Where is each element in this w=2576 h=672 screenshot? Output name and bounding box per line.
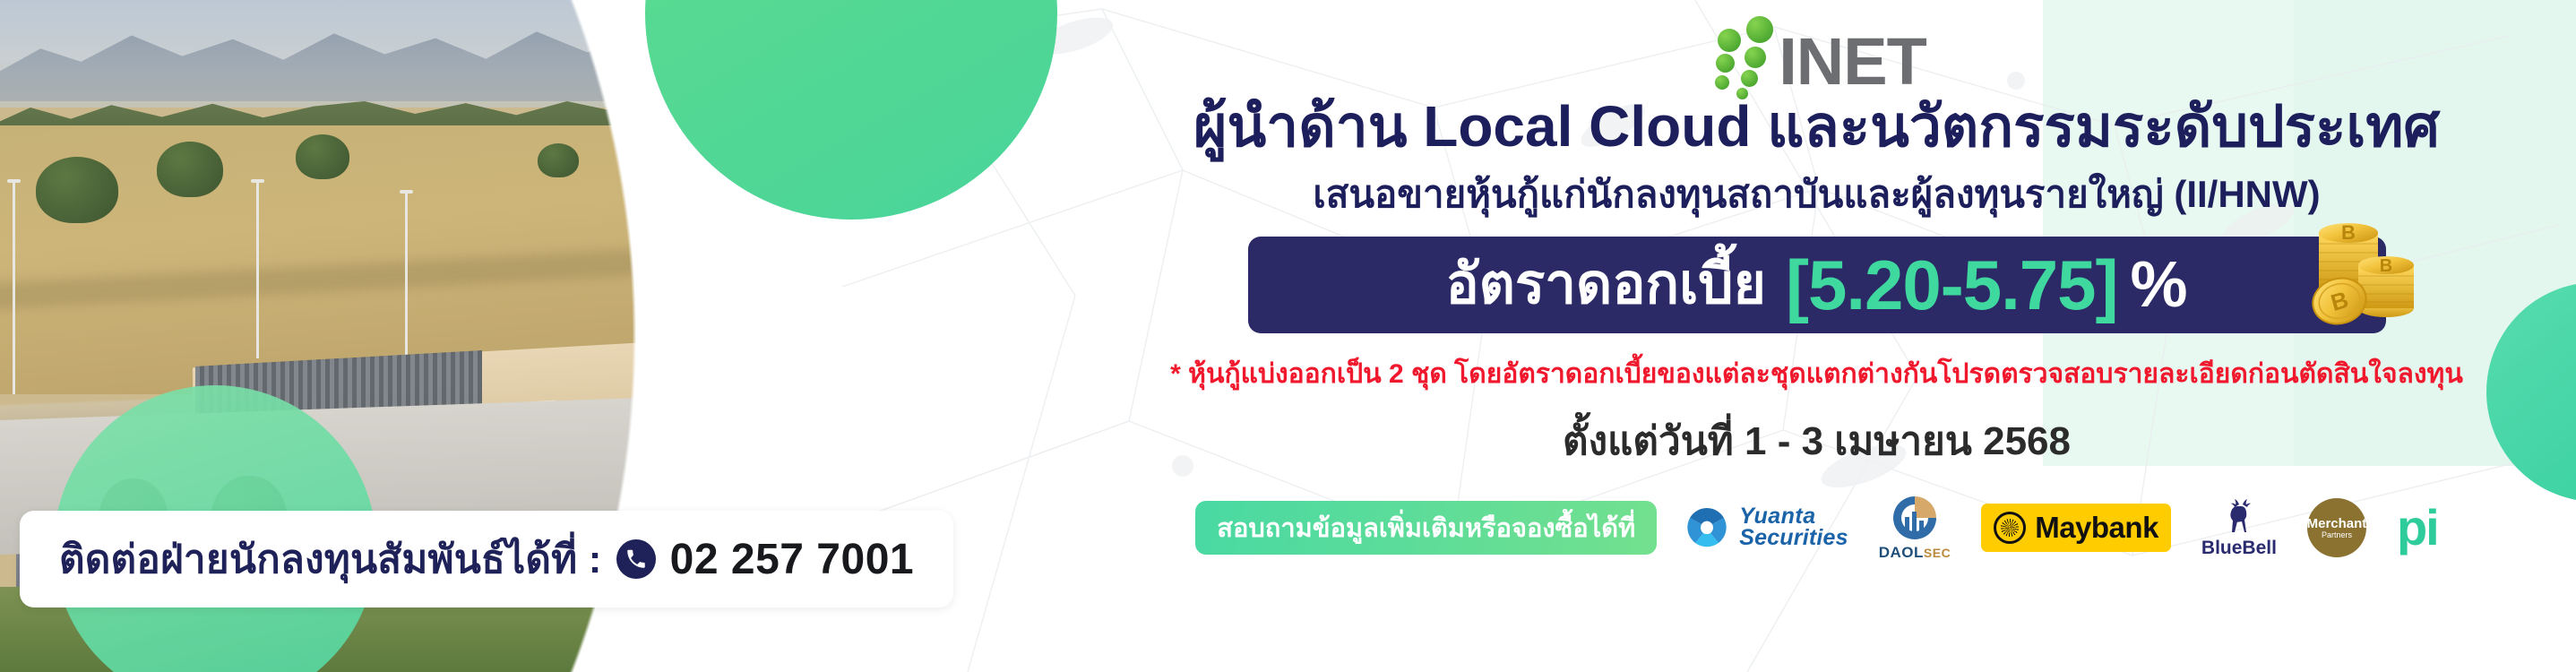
partner-logo-daol[interactable]: DAOLSEC [1879, 494, 1951, 562]
daol-circle-icon [1891, 494, 1939, 542]
contact-label: ติดต่อฝ่ายนักลงทุนสัมพันธ์ได้ที่ : [59, 528, 602, 590]
merchant-line1: Merchant [2307, 517, 2367, 530]
partner-logo-pi[interactable]: pi [2397, 508, 2438, 548]
partner-strip: สอบถามข้อมูลเพิ่มเติมหรือจองซื้อได้ที่ Y… [1195, 494, 2437, 562]
daol-wordmark: DAOLSEC [1879, 544, 1951, 562]
maybank-wordmark: Maybank [2035, 511, 2158, 545]
yuanta-star-icon [1684, 504, 1730, 551]
disclaimer-text: * หุ้นกู้แบ่งออกเป็น 2 ชุด โดยอัตราดอกเบ… [1170, 353, 2463, 395]
partner-logo-yuanta[interactable]: Yuanta Securities [1684, 504, 1848, 551]
yuanta-wordmark: Yuanta Securities [1739, 506, 1848, 549]
partner-logo-merchant-partners[interactable]: Merchant Partners [2307, 498, 2366, 557]
interest-rate-value: [5.20-5.75] [1786, 250, 2118, 320]
underwriter-logos: Yuanta Securities DAOLSEC [1684, 494, 2438, 562]
gold-coins-icon: B B B [2293, 195, 2427, 330]
page-subtitle: เสนอขายหุ้นกู้แก่นักลงทุนสถาบันและผู้ลงท… [1313, 172, 2320, 217]
daol-line2: SEC [1924, 546, 1951, 560]
interest-rate-box: อัตราดอกเบี้ย [5.20-5.75] % [1248, 237, 2386, 333]
inquiry-cta-button[interactable]: สอบถามข้อมูลเพิ่มเติมหรือจองซื้อได้ที่ [1195, 501, 1657, 555]
investor-relations-contact[interactable]: ติดต่อฝ่ายนักลงทุนสัมพันธ์ได้ที่ : 02 25… [20, 511, 953, 607]
partner-logo-maybank[interactable]: Maybank [1981, 504, 2171, 552]
bluebell-wordmark: BlueBell [2201, 538, 2277, 559]
contact-phone-number[interactable]: 02 257 7001 [670, 535, 914, 584]
partner-logo-bluebell[interactable]: BlueBell [2201, 497, 2277, 559]
inet-logo-text: INET [1779, 34, 1926, 90]
svg-text:B: B [2341, 221, 2356, 244]
svg-text:B: B [2379, 256, 2391, 276]
page-title: ผู้นำด้าน Local Cloud และนวัตกรรมระดับปร… [1193, 95, 2440, 159]
offering-period: ตั้งแต่วันที่ 1 - 3 เมษายน 2568 [1563, 409, 2071, 472]
maybank-tiger-icon [1994, 512, 2026, 544]
merchant-line2: Partners [2322, 531, 2352, 539]
inet-debenture-banner: ติดต่อฝ่ายนักลงทุนสัมพันธ์ได้ที่ : 02 25… [0, 0, 2576, 672]
bluebell-deer-icon [2219, 497, 2259, 537]
interest-rate-percent-sign: % [2131, 253, 2188, 317]
yuanta-line2: Securities [1739, 528, 1848, 549]
inet-dots-icon [1707, 14, 1773, 90]
daol-line1: DAOL [1879, 544, 1924, 561]
content-column: INET ผู้นำด้าน Local Cloud และนวัตกรรมระ… [1057, 0, 2576, 672]
inet-logo: INET [1707, 13, 1926, 90]
interest-rate-label: อัตราดอกเบี้ย [1445, 257, 1766, 313]
phone-icon [616, 539, 656, 579]
